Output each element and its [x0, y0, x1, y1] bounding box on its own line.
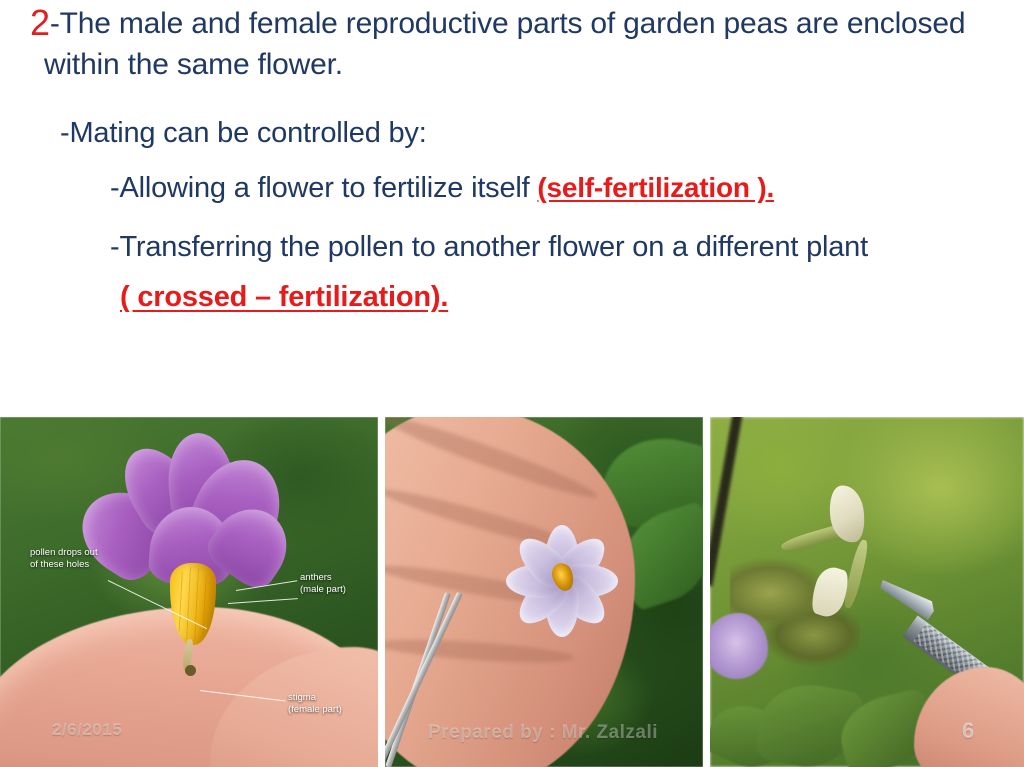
label-anthers: anthers (male part)	[300, 572, 346, 595]
self-fertilization-emphasis: (self-fertilization ).	[537, 172, 774, 203]
anther-striations	[174, 567, 212, 641]
slide-text-block: 2-The male and female reproductive parts…	[0, 0, 1024, 417]
text-line-1-body: -The male and female reproductive parts …	[50, 7, 965, 40]
photo-panel-scalpel	[710, 417, 1024, 767]
text-line-5: -Transferring the pollen to another flow…	[110, 231, 868, 264]
photo-panel-emasculation	[385, 417, 703, 767]
text-line-2: within the same flower.	[44, 48, 343, 82]
label-pollen-holes: pollen drops out of these holes	[30, 547, 98, 570]
lilac-flower	[513, 517, 613, 645]
stigma-tip	[185, 665, 196, 676]
purple-flower	[710, 613, 768, 679]
label-stigma: stigma (female part)	[288, 692, 342, 715]
text-line-3: -Mating can be controlled by:	[60, 117, 427, 150]
text-line-4-body: -Allowing a flower to fertilize itself	[110, 172, 537, 204]
item-number-marker: 2	[30, 2, 50, 43]
crossed-fertilization-emphasis: ( crossed – fertilization).	[120, 281, 448, 313]
text-line-1: 2-The male and female reproductive parts…	[30, 2, 965, 44]
text-line-6: ( crossed – fertilization).	[120, 281, 448, 314]
text-line-4: -Allowing a flower to fertilize itself (…	[110, 172, 774, 205]
photo-strip	[0, 417, 1024, 767]
